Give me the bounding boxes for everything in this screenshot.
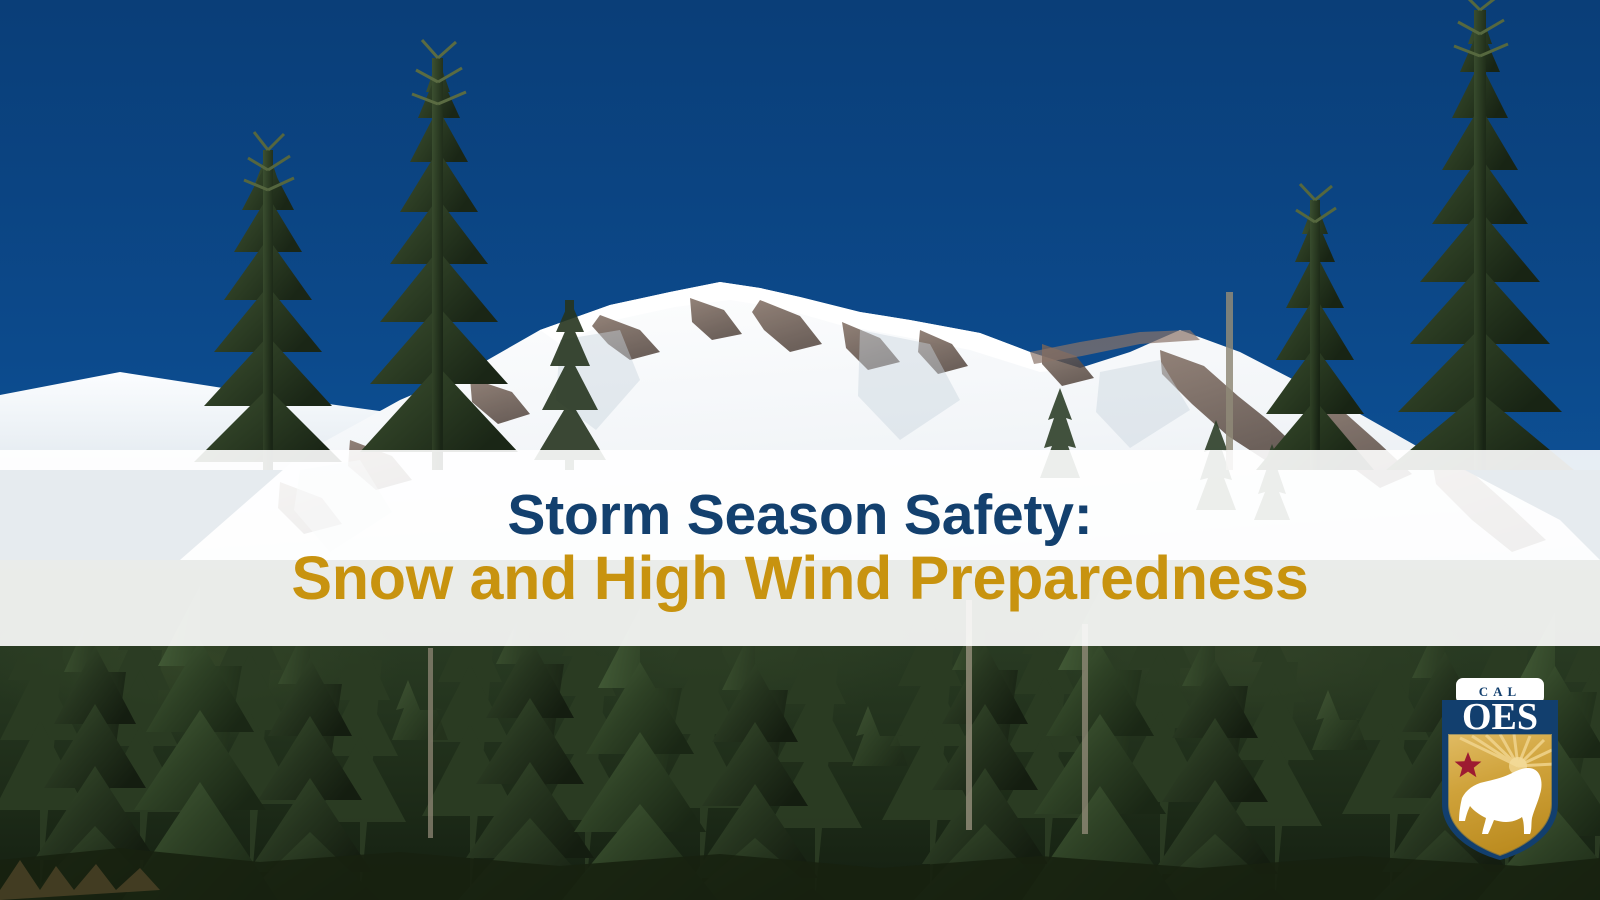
left-foreground-conifers bbox=[150, 0, 670, 470]
right-foreground-conifers bbox=[1170, 0, 1600, 470]
page-title: Storm Season Safety: bbox=[507, 487, 1092, 544]
title-banner: Storm Season Safety: Snow and High Wind … bbox=[0, 450, 1600, 646]
bare-snag-pole bbox=[1226, 292, 1233, 470]
page-subtitle: Snow and High Wind Preparedness bbox=[291, 548, 1308, 609]
cal-oes-logo[interactable]: CAL OES bbox=[1432, 678, 1568, 860]
storm-season-safety-banner: Storm Season Safety: Snow and High Wind … bbox=[0, 0, 1600, 900]
logo-oes-text: OES bbox=[1462, 696, 1538, 738]
cal-oes-shield-icon: CAL OES bbox=[1432, 678, 1568, 860]
